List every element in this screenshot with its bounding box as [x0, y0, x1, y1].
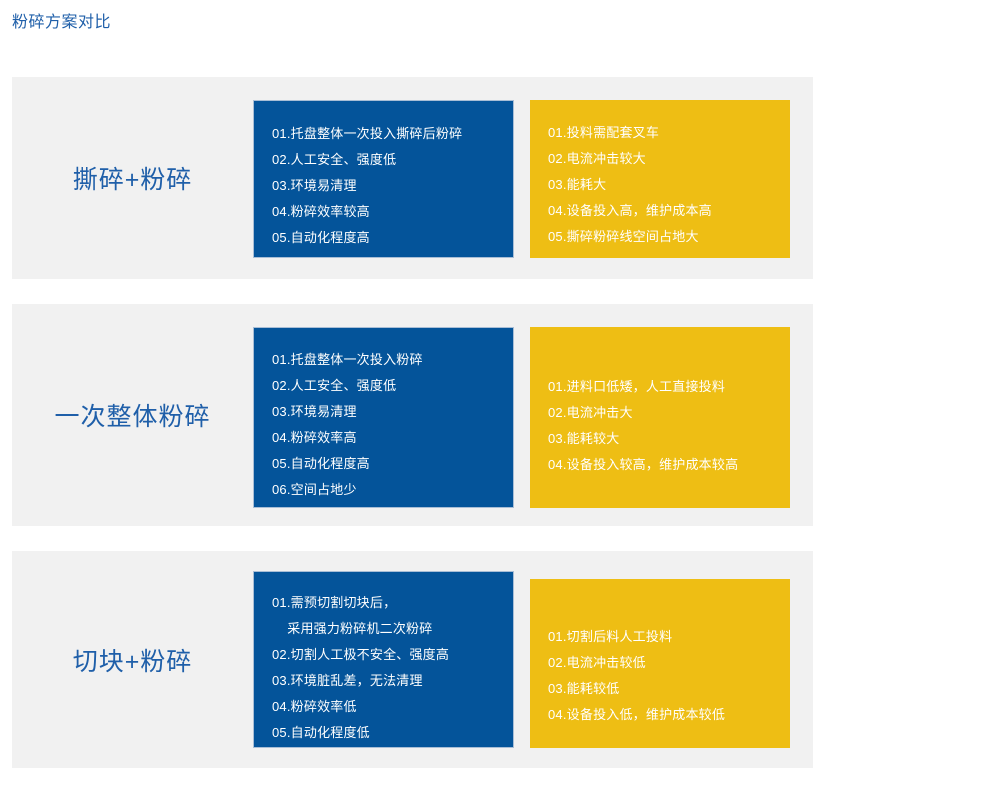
- list-item: 04.设备投入高，维护成本高: [548, 198, 808, 224]
- row-label-scheme-3: 切块+粉碎: [12, 551, 253, 768]
- list-item: 05.自动化程度高: [272, 451, 531, 477]
- cons-panel-scheme-1: 01.投料需配套叉车 02.电流冲击较大 03.能耗大 04.设备投入高，维护成…: [530, 100, 790, 258]
- pros-panel-scheme-3: 01.需预切割切块后， 采用强力粉碎机二次粉碎 02.切割人工极不安全、强度高 …: [253, 571, 514, 748]
- page-title: 粉碎方案对比: [12, 10, 111, 36]
- pros-panel-scheme-2: 01.托盘整体一次投入粉碎 02.人工安全、强度低 03.环境易清理 04.粉碎…: [253, 327, 514, 508]
- comparison-row: 一次整体粉碎 01.托盘整体一次投入粉碎 02.人工安全、强度低 03.环境易清…: [12, 304, 813, 526]
- list-item: 06.空间占地少: [272, 477, 531, 503]
- cons-panel-scheme-2: 01.进料口低矮，人工直接投料 02.电流冲击大 03.能耗较大 04.设备投入…: [530, 327, 790, 508]
- list-item: 04.粉碎效率较高: [272, 199, 531, 225]
- list-item: 03.环境易清理: [272, 399, 531, 425]
- pros-list-scheme-3: 01.需预切割切块后， 采用强力粉碎机二次粉碎 02.切割人工极不安全、强度高 …: [254, 572, 531, 746]
- list-item: 01.托盘整体一次投入撕碎后粉碎: [272, 121, 531, 147]
- row-label-scheme-2: 一次整体粉碎: [12, 304, 253, 526]
- list-item: 02.人工安全、强度低: [272, 147, 531, 173]
- row-label-scheme-1: 撕碎+粉碎: [12, 77, 253, 279]
- cons-list-scheme-3: 01.切割后料人工投料 02.电流冲击较低 03.能耗较低 04.设备投入低，维…: [530, 579, 808, 728]
- list-item: 04.设备投入低，维护成本较低: [548, 702, 808, 728]
- list-item: 04.粉碎效率低: [272, 694, 531, 720]
- list-item: 03.能耗大: [548, 172, 808, 198]
- list-item: 02.电流冲击较大: [548, 146, 808, 172]
- comparison-rows: 撕碎+粉碎 01.托盘整体一次投入撕碎后粉碎 02.人工安全、强度低 03.环境…: [12, 77, 813, 793]
- list-item: 01.切割后料人工投料: [548, 624, 808, 650]
- list-item: 03.能耗较低: [548, 676, 808, 702]
- list-item: 05.自动化程度低: [272, 720, 531, 746]
- list-item: 01.需预切割切块后，: [272, 590, 531, 616]
- list-item: 03.能耗较大: [548, 426, 808, 452]
- list-item: 01.进料口低矮，人工直接投料: [548, 374, 808, 400]
- list-item: 05.自动化程度高: [272, 225, 531, 251]
- pros-list-scheme-1: 01.托盘整体一次投入撕碎后粉碎 02.人工安全、强度低 03.环境易清理 04…: [254, 101, 531, 251]
- list-item: 采用强力粉碎机二次粉碎: [272, 616, 531, 642]
- comparison-row: 撕碎+粉碎 01.托盘整体一次投入撕碎后粉碎 02.人工安全、强度低 03.环境…: [12, 77, 813, 279]
- cons-panel-scheme-3: 01.切割后料人工投料 02.电流冲击较低 03.能耗较低 04.设备投入低，维…: [530, 579, 790, 748]
- cons-list-scheme-1: 01.投料需配套叉车 02.电流冲击较大 03.能耗大 04.设备投入高，维护成…: [530, 100, 808, 250]
- list-item: 01.投料需配套叉车: [548, 120, 808, 146]
- list-item: 02.电流冲击大: [548, 400, 808, 426]
- list-item: 01.托盘整体一次投入粉碎: [272, 347, 531, 373]
- list-item: 02.切割人工极不安全、强度高: [272, 642, 531, 668]
- list-item: 03.环境脏乱差，无法清理: [272, 668, 531, 694]
- list-item: 04.设备投入较高，维护成本较高: [548, 452, 808, 478]
- list-item: 03.环境易清理: [272, 173, 531, 199]
- slide-canvas: 粉碎方案对比 撕碎+粉碎 01.托盘整体一次投入撕碎后粉碎 02.人工安全、强度…: [0, 0, 991, 765]
- list-item: 02.电流冲击较低: [548, 650, 808, 676]
- list-item: 04.粉碎效率高: [272, 425, 531, 451]
- cons-list-scheme-2: 01.进料口低矮，人工直接投料 02.电流冲击大 03.能耗较大 04.设备投入…: [530, 327, 808, 478]
- list-item: 02.人工安全、强度低: [272, 373, 531, 399]
- pros-list-scheme-2: 01.托盘整体一次投入粉碎 02.人工安全、强度低 03.环境易清理 04.粉碎…: [254, 328, 531, 503]
- list-item: 05.撕碎粉碎线空间占地大: [548, 224, 808, 250]
- pros-panel-scheme-1: 01.托盘整体一次投入撕碎后粉碎 02.人工安全、强度低 03.环境易清理 04…: [253, 100, 514, 258]
- comparison-row: 切块+粉碎 01.需预切割切块后， 采用强力粉碎机二次粉碎 02.切割人工极不安…: [12, 551, 813, 768]
